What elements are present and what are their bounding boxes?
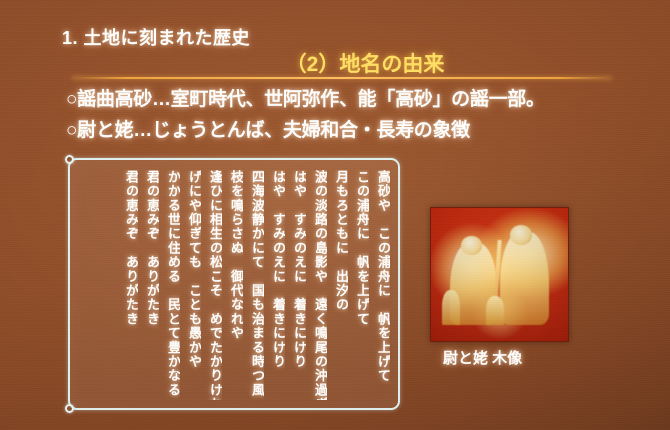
- poem-column: 逢ひに相生の松こそ めでたかりけれ: [202, 170, 222, 400]
- poem-column: 波の淡路の島影や 遠く鳴尾の沖過ぎて: [307, 170, 327, 400]
- poem-column: げにや仰ぎても ことも愚かや: [181, 170, 201, 400]
- title-divider: [72, 77, 612, 79]
- page-title: 1. 土地に刻まれた歴史: [62, 24, 250, 50]
- wooden-statue-photo: [430, 207, 569, 342]
- slide-subtitle: （2）地名の由来: [0, 48, 670, 78]
- poem-column: この浦舟に 帆を上げて: [349, 170, 369, 400]
- photo-image: [431, 208, 568, 341]
- poem-column: 君の恵みぞ ありがたき: [139, 170, 159, 400]
- bullet-list: ○謡曲高砂…室町時代、世阿弥作、能「高砂」の謡一部。 ○尉と姥…じょうとんば、夫…: [66, 84, 626, 146]
- poem-column-group: 高砂や この浦舟に 帆を上げて この浦舟に 帆を上げて 月もろともに 出汐の 波…: [70, 160, 398, 408]
- slide-canvas: 1. 土地に刻まれた歴史 （2）地名の由来 ○謡曲高砂…室町時代、世阿弥作、能「…: [0, 0, 670, 430]
- bullet-item: ○謡曲高砂…室町時代、世阿弥作、能「高砂」の謡一部。: [66, 84, 626, 115]
- poem-column: はや すみのえに 着きにけり: [286, 170, 306, 400]
- poem-column: 高砂や この浦舟に 帆を上げて: [370, 170, 390, 400]
- poem-column: 枝を鳴らさぬ 御代なれや: [223, 170, 243, 400]
- poem-column: かかる世に住める 民とて豊かなる: [160, 170, 180, 400]
- bullet-item: ○尉と姥…じょうとんば、夫婦和合・長寿の象徴: [66, 115, 626, 146]
- poem-column: 四海波静かにて 国も治まる時つ風: [244, 170, 264, 400]
- poem-column: 月もろともに 出汐の: [328, 170, 348, 400]
- photo-vignette: [431, 208, 568, 341]
- poem-column: 君の恵みぞ ありがたき: [118, 170, 138, 400]
- photo-caption: 尉と姥 木像: [443, 347, 522, 368]
- poem-column: はや すみのえに 着きにけり: [265, 170, 285, 400]
- poem-textbox[interactable]: 高砂や この浦舟に 帆を上げて この浦舟に 帆を上げて 月もろともに 出汐の 波…: [68, 158, 400, 410]
